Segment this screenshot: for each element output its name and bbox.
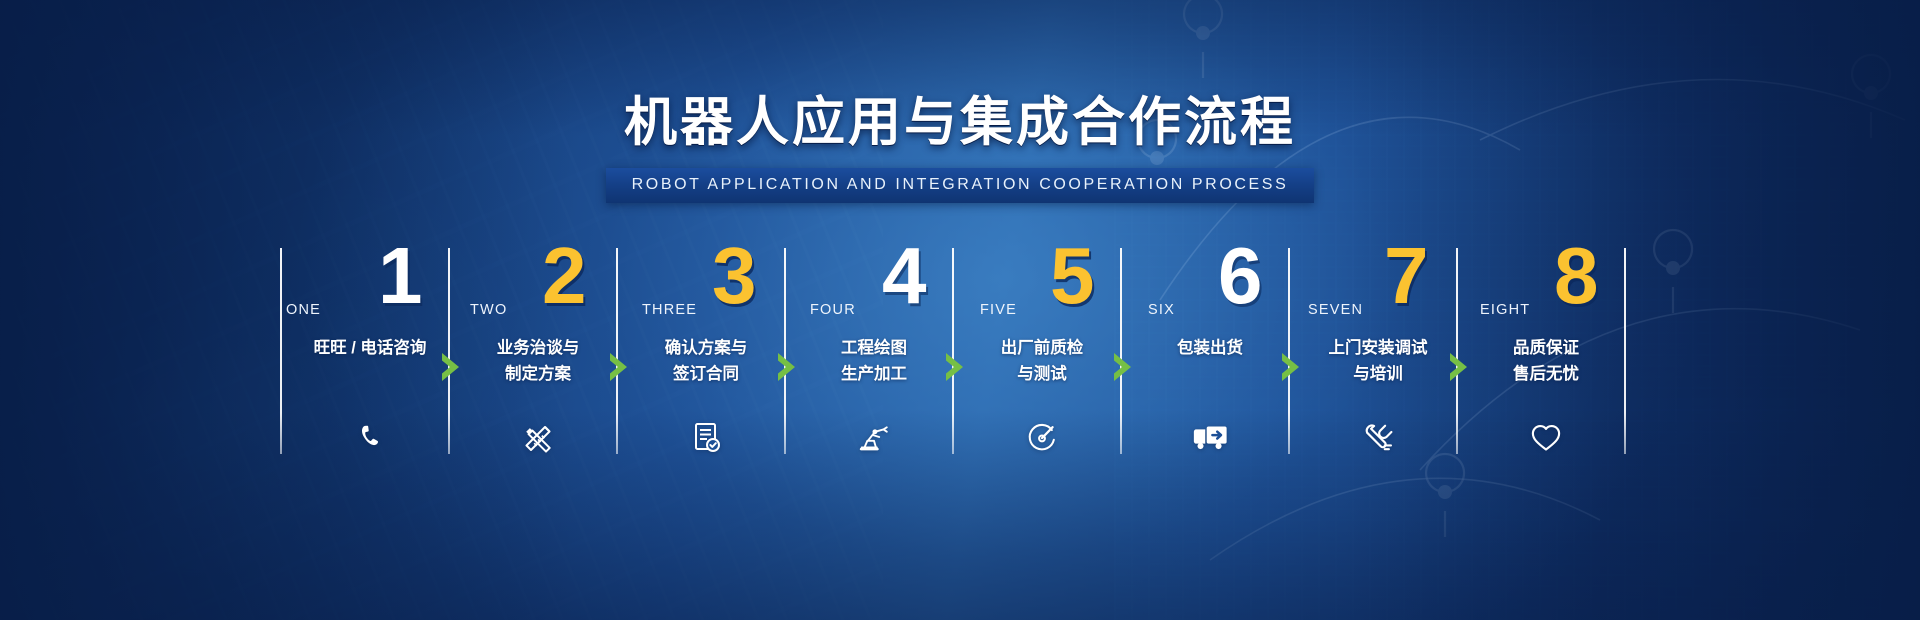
robot-arm-icon <box>790 420 958 454</box>
step-description: 上门安装调试 与培训 <box>1294 336 1462 387</box>
step-ordinal-label: SIX <box>1148 302 1175 318</box>
step-ordinal-label: EIGHT <box>1480 302 1530 318</box>
step-description: 确认方案与 签订合同 <box>622 336 790 387</box>
step-description: 工程绘图 生产加工 <box>790 336 958 387</box>
step-number: 7 <box>1384 236 1428 316</box>
process-step-6[interactable]: 6SIX包装出货 <box>1126 248 1294 466</box>
process-step-2[interactable]: 2TWO业务治谈与 制定方案 <box>454 248 622 466</box>
process-steps-strip: 1ONE旺旺 / 电话咨询2TWO业务治谈与 制定方案3THREE确认方案与 签… <box>286 248 1636 466</box>
delivery-truck-icon <box>1126 420 1294 454</box>
step-number: 3 <box>712 236 756 316</box>
step-divider <box>280 248 282 454</box>
promo-banner: 机器人应用与集成合作流程 ROBOT APPLICATION AND INTEG… <box>0 0 1920 620</box>
step-ordinal-label: SEVEN <box>1308 302 1363 318</box>
page-subtitle: ROBOT APPLICATION AND INTEGRATION COOPER… <box>632 176 1289 194</box>
process-step-1[interactable]: 1ONE旺旺 / 电话咨询 <box>286 248 454 466</box>
step-number: 1 <box>378 236 422 316</box>
process-step-5[interactable]: 5FIVE出厂前质检 与测试 <box>958 248 1126 466</box>
step-ordinal-label: FIVE <box>980 302 1017 318</box>
step-description: 旺旺 / 电话咨询 <box>286 336 454 362</box>
ruler-pen-icon <box>454 420 622 454</box>
page-title: 机器人应用与集成合作流程 <box>0 96 1920 149</box>
step-ordinal-label: TWO <box>470 302 507 318</box>
phone-icon <box>286 420 454 454</box>
step-description: 出厂前质检 与测试 <box>958 336 1126 387</box>
process-step-4[interactable]: 4FOUR工程绘图 生产加工 <box>790 248 958 466</box>
step-number: 4 <box>882 236 926 316</box>
step-number: 2 <box>542 236 586 316</box>
heart-icon <box>1462 420 1630 454</box>
step-ordinal-label: FOUR <box>810 302 856 318</box>
wrench-screwdriver-icon <box>1294 420 1462 454</box>
contract-check-icon <box>622 420 790 454</box>
subtitle-band: ROBOT APPLICATION AND INTEGRATION COOPER… <box>606 168 1315 203</box>
step-number: 6 <box>1218 236 1262 316</box>
step-description: 包装出货 <box>1126 336 1294 362</box>
process-step-3[interactable]: 3THREE确认方案与 签订合同 <box>622 248 790 466</box>
step-ordinal-label: ONE <box>286 302 321 318</box>
step-description: 业务治谈与 制定方案 <box>454 336 622 387</box>
process-step-7[interactable]: 7SEVEN上门安装调试 与培训 <box>1294 248 1462 466</box>
step-number: 8 <box>1554 236 1598 316</box>
step-description: 品质保证 售后无忧 <box>1462 336 1630 387</box>
banner-heading-group: 机器人应用与集成合作流程 ROBOT APPLICATION AND INTEG… <box>0 96 1920 203</box>
step-number: 5 <box>1050 236 1094 316</box>
gauge-icon <box>958 420 1126 454</box>
step-ordinal-label: THREE <box>642 302 697 318</box>
process-step-8[interactable]: 8EIGHT品质保证 售后无忧 <box>1462 248 1630 466</box>
